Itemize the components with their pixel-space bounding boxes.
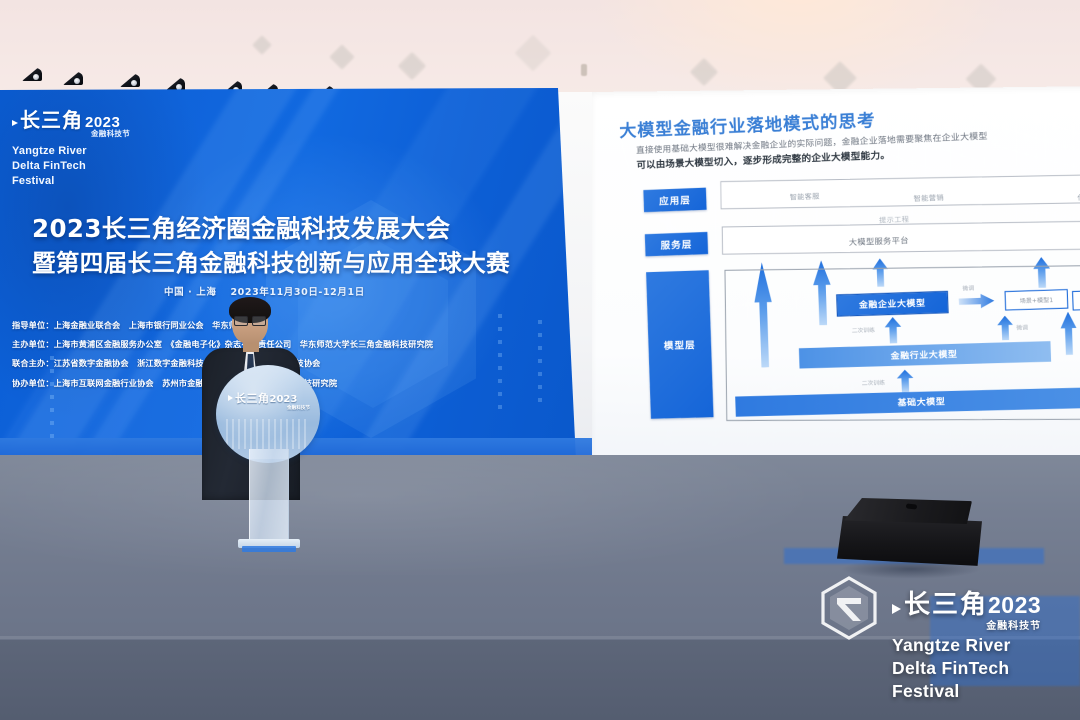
ceiling-fixture <box>581 64 587 76</box>
glasses-icon <box>234 316 266 324</box>
slide-application-row <box>720 174 1080 209</box>
banner-logo-chinese: 长三角 <box>20 108 83 132</box>
slide-service-item-1: 大模型服务平台 <box>849 235 909 248</box>
slide-scene-model-2: 场景+模型2 <box>1072 289 1080 311</box>
slide-arrow-label-retrain: 二次训练 <box>852 326 875 335</box>
arrow-tick-icon <box>12 120 18 126</box>
podium-stem <box>249 449 289 541</box>
arrow-tick-icon <box>892 604 901 614</box>
slide-scene-model-1: 场景+模型1 <box>1004 289 1068 310</box>
banner-title-line-2: 暨第四届长三角金融科技创新与应用全球大赛 <box>32 247 552 280</box>
monitor-front-panel <box>834 516 982 568</box>
stage-floor-monitor <box>828 498 988 574</box>
podium: 长三角2023 金融科技节 <box>216 365 320 565</box>
banner-logo: 长三角2023 金融科技节 Yangtze River Delta FinTec… <box>12 110 130 190</box>
podium-logo: 长三角2023 金融科技节 <box>228 387 310 411</box>
festival-watermark: 长三角2023 金融科技节 Yangtze River Delta FinTec… <box>816 576 1080 716</box>
podium-skyline-graphic <box>226 419 310 449</box>
watermark-english: Yangtze River Delta FinTech Festival <box>892 634 1011 703</box>
watermark-english-2: Delta FinTech <box>892 657 1011 680</box>
arrow-tick-icon <box>228 395 233 401</box>
slide-layer-label-application: 应用层 <box>643 188 706 212</box>
slide-layer-label-model: 模型层 <box>646 270 713 419</box>
banner-logo-english-2: Delta FinTech <box>12 159 130 174</box>
festival-hex-logo-icon <box>820 576 878 640</box>
banner-title: 2023长三角经济圈金融科技发展大会 暨第四届长三角金融科技创新与应用全球大赛 <box>32 212 552 280</box>
slide-arrow-label-retrain-2: 二次训练 <box>862 378 885 387</box>
banner-title-line-1: 2023长三角经济圈金融科技发展大会 <box>32 212 552 247</box>
watermark-english-3: Festival <box>892 680 1011 703</box>
slide-arrow-label-finetune: 微调 <box>962 284 974 293</box>
banner-date-line: 中国 · 上海2023年11月30日-12月1日 <box>164 284 365 298</box>
banner-location: 中国 · 上海 <box>164 287 216 298</box>
slide-layer-label-service: 服务层 <box>645 232 708 256</box>
monitor-top-panel <box>844 498 972 524</box>
presentation-screen: 大模型金融行业落地模式的思考 直接使用基础大模型很难解决金融企业的实际问题，金融… <box>592 86 1080 470</box>
banner-logo-english-1: Yangtze River <box>12 144 130 159</box>
slide-arrow-label-finetune-2: 微调 <box>1016 323 1028 332</box>
monitor-handle <box>906 503 917 509</box>
podium-base-accent <box>242 546 296 552</box>
watermark-english-1: Yangtze River <box>892 634 1011 657</box>
banner-logo-english-3: Festival <box>12 174 130 189</box>
watermark-chinese: 长三角 <box>904 592 988 618</box>
watermark-year: 2023 <box>988 592 1041 618</box>
podium-logo-chinese: 长三角 <box>235 390 270 406</box>
watermark-text-block: 长三角2023 金融科技节 <box>892 592 1041 632</box>
podium-logo-year: 2023 <box>270 394 298 405</box>
slide-app-item-1: 智能营销 <box>913 193 944 204</box>
slide-app-item-0: 智能客服 <box>790 191 820 202</box>
slide-model-enterprise: 金融企业大模型 <box>836 291 949 317</box>
conference-stage-photo: 长三角2023 金融科技节 Yangtze River Delta FinTec… <box>0 0 1080 720</box>
